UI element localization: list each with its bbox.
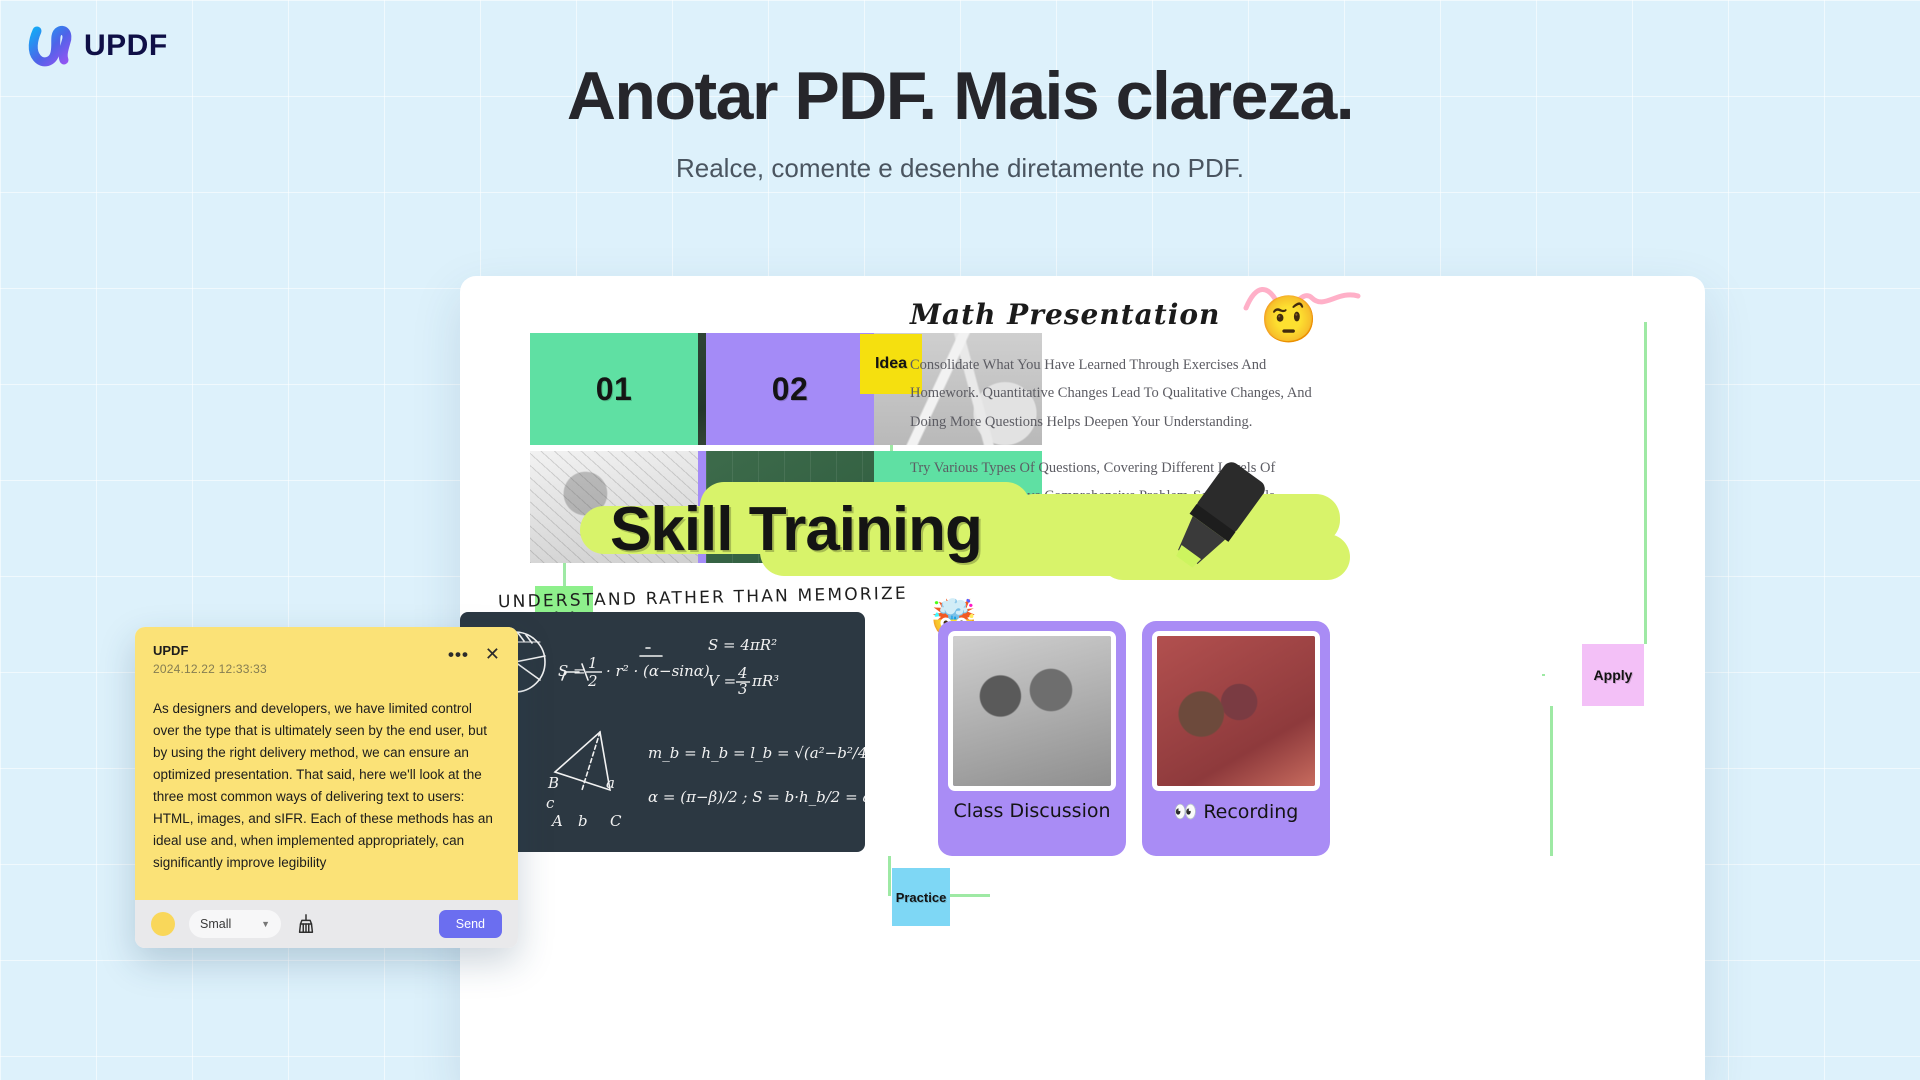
connector-line bbox=[1644, 322, 1647, 644]
sticky-label-text: Practice bbox=[896, 890, 947, 905]
more-horizontal-icon[interactable]: ••• bbox=[448, 646, 469, 663]
card-thumbnail bbox=[948, 631, 1116, 791]
svg-text:C: C bbox=[610, 812, 622, 830]
svg-text:b: b bbox=[578, 812, 588, 830]
tile-number: 01 bbox=[530, 333, 698, 445]
svg-text:S =: S = bbox=[558, 662, 586, 680]
chevron-down-icon: ▼ bbox=[261, 919, 270, 929]
svg-text:B: B bbox=[547, 774, 559, 792]
svg-text:1: 1 bbox=[588, 654, 598, 672]
photo-card-class-discussion[interactable]: Class Discussion bbox=[938, 621, 1126, 856]
sticky-label-practice[interactable]: Practice bbox=[892, 868, 950, 926]
tile-color-block: 01 bbox=[530, 333, 698, 445]
page-title: Anotar PDF. Mais clareza. bbox=[0, 60, 1920, 133]
svg-text:V =: V = bbox=[708, 672, 736, 690]
connector-line bbox=[1550, 706, 1553, 856]
highlighter-marker-icon bbox=[1160, 456, 1280, 576]
note-text[interactable]: As designers and developers, we have lim… bbox=[153, 698, 500, 874]
sticky-label-text: Idea bbox=[875, 355, 907, 373]
card-caption: 👀 Recording bbox=[1152, 800, 1320, 823]
thinking-emoji: 🤨 bbox=[1260, 296, 1317, 342]
hero-section: Anotar PDF. Mais clareza. Realce, coment… bbox=[0, 60, 1920, 184]
svg-text:c: c bbox=[546, 794, 555, 812]
font-size-value: Small bbox=[200, 917, 231, 931]
svg-text:A: A bbox=[550, 812, 563, 830]
sticky-label-text: Apply bbox=[1594, 667, 1633, 683]
font-size-select[interactable]: Small ▼ bbox=[189, 910, 281, 938]
connector-line bbox=[888, 856, 891, 896]
note-body: UPDF 2024.12.22 12:33:33 ••• ✕ As design… bbox=[135, 627, 518, 900]
annotation-note-popup[interactable]: UPDF 2024.12.22 12:33:33 ••• ✕ As design… bbox=[135, 627, 518, 948]
connector-line bbox=[1542, 674, 1545, 676]
svg-text:a: a bbox=[606, 774, 615, 792]
send-button[interactable]: Send bbox=[439, 910, 502, 938]
broom-eraser-icon[interactable] bbox=[295, 913, 317, 935]
document-preview[interactable]: 01 02 03 04 Idea Solution A bbox=[460, 276, 1705, 1080]
svg-text:2: 2 bbox=[587, 672, 598, 690]
card-thumbnail bbox=[1152, 631, 1320, 791]
tile-number: 02 bbox=[706, 333, 874, 445]
svg-text:α = (π−β)/2 ; S = b·h_b/2 = a: α = (π−β)/2 ; S = b·h_b/2 = a² sinβ/2 bbox=[648, 788, 865, 806]
color-swatch[interactable] bbox=[151, 912, 175, 936]
card-caption: Class Discussion bbox=[948, 800, 1116, 822]
blackboard-formulas: S = 1 2 · r² · (α−sinα) S = 4πR² V = 4 3… bbox=[460, 612, 865, 852]
svg-text:S = 4πR²: S = 4πR² bbox=[708, 636, 777, 654]
connector-line bbox=[950, 894, 990, 897]
note-toolbar: Small ▼ Send bbox=[135, 900, 518, 948]
svg-text:m_b = h_b = l_b = √(a²−b²/4): m_b = h_b = l_b = √(a²−b²/4) bbox=[648, 744, 865, 762]
formula-drawing: S = 1 2 · r² · (α−sinα) S = 4πR² V = 4 3… bbox=[460, 612, 865, 852]
svg-text:πR³: πR³ bbox=[751, 672, 779, 690]
photo-card-recording[interactable]: 👀 Recording bbox=[1142, 621, 1330, 856]
note-author: UPDF bbox=[153, 643, 448, 658]
brand-name: UPDF bbox=[84, 29, 168, 63]
page-subtitle: Realce, comente e desenhe diretamente no… bbox=[0, 153, 1920, 184]
tile-color-block: 02 bbox=[706, 333, 874, 445]
skill-training-text: Skill Training bbox=[610, 494, 982, 565]
note-header: UPDF 2024.12.22 12:33:33 ••• ✕ bbox=[153, 643, 500, 676]
close-icon[interactable]: ✕ bbox=[485, 645, 500, 663]
note-timestamp: 2024.12.22 12:33:33 bbox=[153, 662, 448, 676]
svg-text:· r² · (α−sinα): · r² · (α−sinα) bbox=[606, 662, 710, 680]
svg-text:3: 3 bbox=[738, 680, 748, 698]
sticky-label-apply[interactable]: Apply bbox=[1582, 644, 1644, 706]
paragraph: Consolidate What You Have Learned Throug… bbox=[910, 351, 1330, 436]
